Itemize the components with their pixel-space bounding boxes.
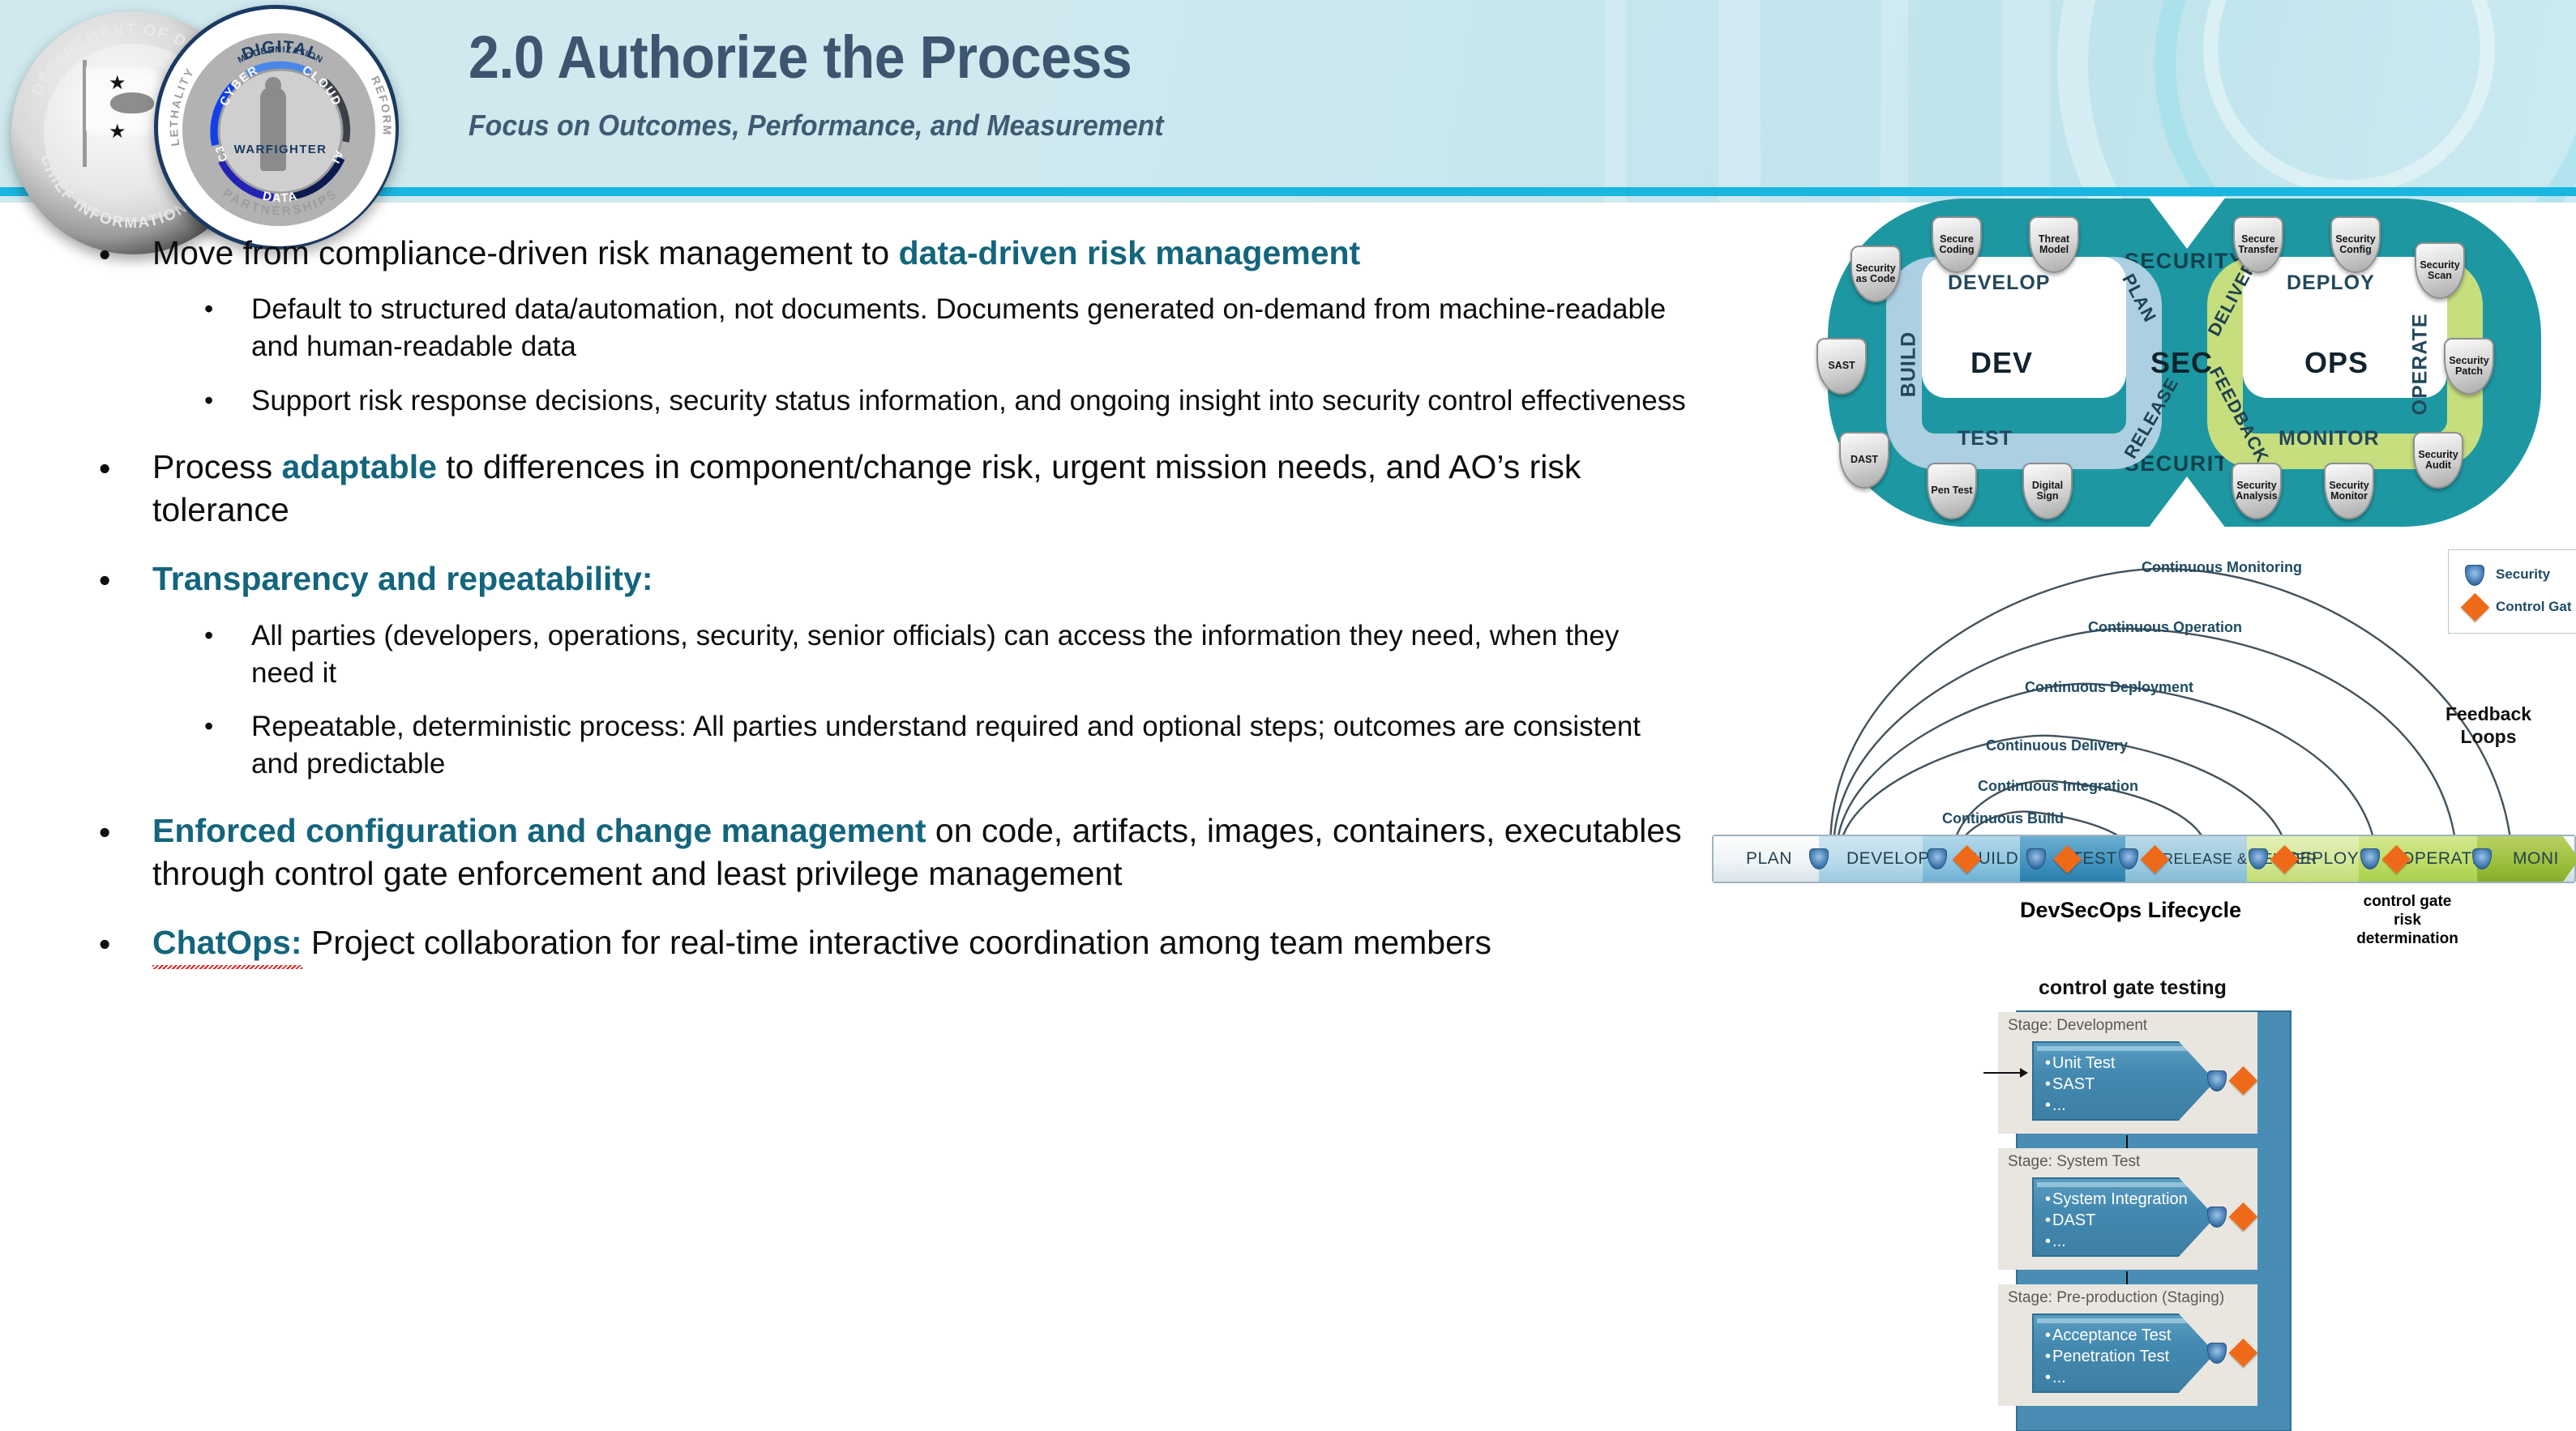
item-label: Unit Test [2052,1054,2115,1072]
bullet-highlight: Enforced configuration and change manage… [152,812,926,849]
bullet-gap [0,788,1686,809]
shield-label: Security Config [2334,234,2377,256]
item-bullet: • [2045,1211,2051,1229]
bullet-text: All parties (developers, operations, sec… [251,620,1619,689]
svg-text:C3: C3 [212,143,230,164]
control-gate-test-item: •System Integration [2045,1190,2188,1209]
item-label: SAST [2052,1075,2095,1093]
devsecops-lifecycle-diagram: Continuous Monitoring Continuous Operati… [1710,545,2576,950]
infinity-word-ops: OPS [2304,346,2368,380]
tag-highlight [2037,1046,2199,1051]
control-gate-testing-diagram: control gate testing Stage: Development•… [1990,976,2576,1431]
bullet-level-2: •All parties (developers, operations, se… [0,617,1686,692]
infinity-label-operate: OPERATE [2409,304,2433,425]
bullet-level-1: •Process adaptable to differences in com… [0,446,1686,532]
item-bullet: • [2045,1326,2051,1344]
shield-label: Security Analysis [2235,481,2279,502]
bullet-level-1: •Transparency and repeatability: [0,557,1686,600]
feedback-line-1: Feedback [2432,703,2545,726]
svg-text:LETHALITY: LETHALITY [167,65,197,147]
devsecops-infinity-diagram: SECURITY SECURITY DEVELOP BUILD TEST PLA… [1828,199,2541,527]
control-gate-stage-label: Stage: Pre-production (Staging) [2008,1289,2224,1307]
item-bullet: • [2045,1075,2051,1093]
bullet-list: •Move from compliance-driven risk manage… [0,232,1686,964]
bullet-highlight: data-driven risk management [899,234,1361,271]
bullet-text: Move from compliance-driven risk managem… [152,234,899,271]
bullet-gap [0,900,1686,921]
lifecycle-arc-label-continuous-operation: Continuous Operation [2088,619,2242,636]
shield-label: Security as Code [1854,263,1898,285]
bullet-highlight: adaptable [282,448,437,485]
infinity-label-build: BUILD [1898,316,1921,413]
bullet-gap [0,425,1686,446]
control-gate-test-item: •Unit Test [2045,1054,2115,1073]
svg-text:WARFIGHTER: WARFIGHTER [234,143,327,156]
control-gate-diamond-icon [2461,593,2489,622]
control-gate-stage-tag: •Unit Test•SAST•... [2032,1041,2215,1121]
control-gate-input-arrow [1983,1072,2021,1074]
bullet-highlight: Transparency and repeatability: [152,560,653,597]
header-streak [2002,0,2051,203]
control-gate-stage-tag: •Acceptance Test•Penetration Test•... [2032,1314,2215,1393]
bullet-text: Default to structured data/automation, n… [251,293,1666,362]
control-gate-note-line-3: determination [2326,930,2488,949]
slide: 2.0 Authorize the Process Focus on Outco… [0,0,2576,1431]
legend-label-control-gate: Control Gat [2496,599,2572,615]
header-streak [1605,0,1626,203]
shield-label: Secure Coding [1935,234,1979,256]
item-label: ... [2052,1369,2066,1386]
svg-text:AI: AI [329,148,346,166]
bullet-level-2: •Support risk response decisions, securi… [0,382,1686,420]
bullet-marker: • [204,618,213,652]
bullet-text: Support risk response decisions, securit… [251,385,1686,416]
item-label: ... [2052,1096,2066,1114]
control-gate-test-item: •DAST [2045,1211,2095,1230]
item-bullet: • [2045,1054,2051,1072]
lifecycle-legend: Security Control Gat [2448,549,2576,634]
bullet-level-2: •Default to structured data/automation, … [0,291,1686,365]
infinity-word-sec: SEC [2150,346,2213,380]
bullet-gap [0,606,1686,617]
lifecycle-stage-label: MONI [2498,849,2559,869]
bullet-level-1: •Move from compliance-driven risk manage… [0,232,1686,275]
lifecycle-arc-label-continuous-monitoring: Continuous Monitoring [2142,559,2302,576]
shield-label: Secure Transfer [2236,234,2280,256]
bullet-gap [0,697,1686,708]
lifecycle-arc-label-continuous-build: Continuous Build [1942,810,2064,827]
infinity-label-deploy: DEPLOY [2287,271,2375,295]
control-gate-test-item: •... [2045,1096,2066,1115]
bullet-marker: • [204,383,213,417]
lifecycle-arc-label-continuous-delivery: Continuous Delivery [1986,737,2128,754]
bullet-level-1: •Enforced configuration and change manag… [0,809,1686,896]
bullet-marker: • [99,559,110,602]
bullet-gap [0,536,1686,557]
lifecycle-stage-monitor: MONI [2498,836,2559,882]
bullet-misspelled-term: ChatOps: [152,921,302,964]
control-gate-stage-label: Stage: System Test [2008,1153,2140,1171]
svg-text:CLOUD: CLOUD [300,63,344,109]
page-subtitle: Focus on Outcomes, Performance, and Meas… [469,109,1164,143]
shield-label: DAST [1851,455,1878,465]
bullet-text: Project collaboration for real-time inte… [302,924,1492,961]
bullet-gap [0,371,1686,382]
legend-label-security: Security [2496,566,2550,583]
infinity-label-monitor: MONITOR [2279,427,2380,451]
item-bullet: • [2045,1369,2051,1386]
control-gate-note-line-1: control gate [2326,893,2488,912]
lifecycle-feedback-loops-label: Feedback Loops [2432,703,2545,748]
infinity-label-develop: DEVELOP [1948,271,2050,295]
lifecycle-stage-label: PLAN [1731,849,1792,869]
control-gate-note-line-2: risk [2326,912,2488,930]
item-bullet: • [2045,1348,2051,1365]
bullet-text: Process [152,448,282,485]
control-gate-stage-label: Stage: Development [2008,1017,2147,1035]
control-gate-stage-tag: •System Integration•DAST•... [2032,1177,2215,1257]
tag-highlight [2037,1318,2199,1323]
bullet-text: Repeatable, deterministic process: All p… [251,711,1641,780]
bullet-marker: • [99,447,110,490]
shield-label: Digital Sign [2026,481,2069,502]
lifecycle-stage-plan: PLAN [1731,836,1792,882]
item-bullet: • [2045,1190,2051,1208]
slide-body: •Move from compliance-driven risk manage… [0,203,1686,1431]
shield-label: Security Monitor [2327,481,2371,502]
control-gate-test-item: •Penetration Test [2045,1348,2169,1366]
bullet-level-2: •Repeatable, deterministic process: All … [0,708,1686,783]
bullet-marker: • [99,233,110,276]
lifecycle-arc-label-continuous-deployment: Continuous Deployment [2025,679,2193,696]
lifecycle-stage-bar: PLAN DEVELOP BUILD TEST RELEASE & DELIVE… [1712,835,2576,883]
item-label: DAST [2052,1211,2095,1229]
security-shield-icon [2465,565,2484,586]
shield-label: Security Patch [2447,356,2491,378]
control-gate-test-item: •... [2045,1232,2066,1251]
item-label: System Integration [2052,1190,2188,1208]
lifecycle-title: DevSecOps Lifecycle [2020,898,2241,923]
item-label: Acceptance Test [2052,1326,2171,1344]
shield-label: SAST [1828,361,1855,371]
bullet-marker: • [204,709,213,743]
shield-label: Threat Model [2032,234,2076,256]
tag-highlight [2037,1182,2199,1187]
bullet-marker: • [99,811,110,854]
bullet-marker: • [204,292,213,326]
bullet-marker: • [99,923,110,966]
infinity-label-test: TEST [1958,427,2013,451]
item-bullet: • [2045,1096,2051,1114]
lifecycle-stage-label: DEVELOP [1832,849,1930,869]
shield-label: Pen Test [1931,485,1972,496]
control-gate-testing-title: control gate testing [2039,976,2227,1000]
infinity-word-dev: DEV [1971,346,2033,380]
shield-label: Security Scan [2418,260,2462,282]
feedback-line-2: Loops [2432,726,2545,749]
item-bullet: • [2045,1232,2051,1250]
header-streak [1881,0,1908,203]
item-label: ... [2052,1232,2066,1250]
lifecycle-arc-label-continuous-integration: Continuous Integration [1978,778,2138,795]
shield-label: Security Audit [2416,450,2460,472]
bullet-gap [0,280,1686,291]
lifecycle-stage-develop: DEVELOP [1832,836,1930,882]
control-gate-test-item: •Acceptance Test [2045,1326,2171,1345]
svg-text:CYBER: CYBER [217,63,261,108]
control-gate-test-item: •... [2045,1369,2066,1387]
control-gate-test-item: •SAST [2045,1075,2095,1094]
item-label: Penetration Test [2052,1348,2169,1365]
svg-text:REFORM: REFORM [369,74,394,137]
header-streak [1718,0,1761,203]
lifecycle-control-gate-note: control gate risk determination [2326,893,2488,948]
bullet-level-1: •ChatOps: Project collaboration for real… [0,921,1686,964]
page-title: 2.0 Authorize the Process [469,23,1132,92]
